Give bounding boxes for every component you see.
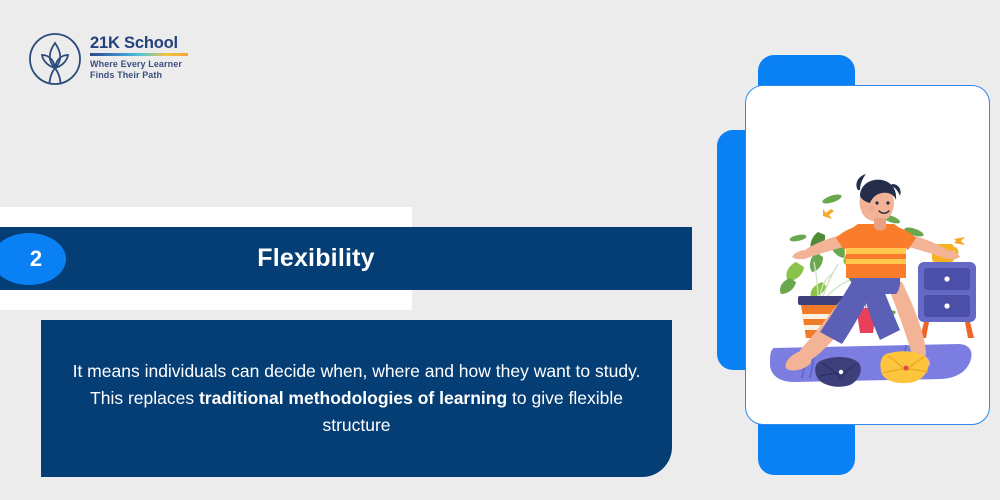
- logo-tagline-line-1: Where Every Learner: [90, 59, 188, 70]
- logo-gradient-rule: [90, 53, 188, 56]
- yoga-illustration: [746, 86, 990, 425]
- brand-logo[interactable]: 21K School Where Every Learner Finds The…: [28, 30, 248, 90]
- description-text: It means individuals can decide when, wh…: [72, 358, 642, 439]
- logo-tagline-line-2: Finds Their Path: [90, 70, 188, 81]
- lotus-in-circle-logo-icon: [28, 32, 82, 86]
- navy-cushion-icon: [815, 357, 861, 387]
- logo-text-group: 21K School Where Every Learner Finds The…: [90, 34, 188, 81]
- description-emphasis: traditional methodologies of learning: [199, 388, 507, 408]
- section-title: Flexibility: [257, 244, 375, 273]
- logo-tagline: Where Every Learner Finds Their Path: [90, 59, 188, 81]
- logo-title: 21K School: [90, 34, 188, 52]
- illustration-zone: [700, 40, 1000, 500]
- slide-canvas: 21K School Where Every Learner Finds The…: [0, 0, 1000, 500]
- section-header-bar: Flexibility: [0, 227, 692, 290]
- description-panel: It means individuals can decide when, wh…: [41, 320, 672, 477]
- step-number-label: 2: [30, 246, 42, 272]
- illustration-card: [745, 85, 990, 425]
